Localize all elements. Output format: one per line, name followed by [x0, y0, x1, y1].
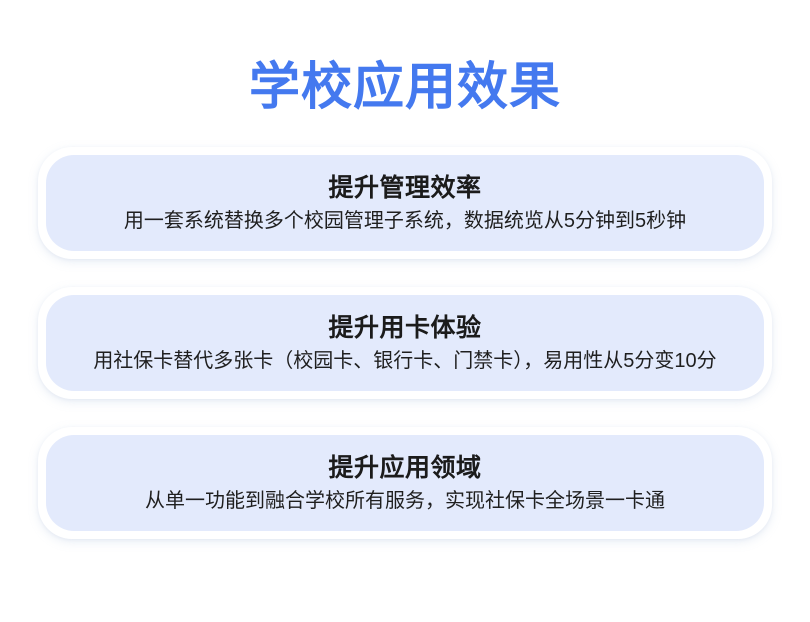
benefit-card-1-surface: 提升管理效率 用一套系统替换多个校园管理子系统，数据统览从5分钟到5秒钟 — [46, 155, 764, 251]
page-title: 学校应用效果 — [0, 57, 810, 117]
benefit-card-2-heading: 提升用卡体验 — [328, 312, 481, 344]
benefit-card-1: 提升管理效率 用一套系统替换多个校园管理子系统，数据统览从5分钟到5秒钟 — [38, 147, 772, 259]
benefit-card-1-body: 用一套系统替换多个校园管理子系统，数据统览从5分钟到5秒钟 — [124, 208, 686, 235]
benefit-card-1-heading: 提升管理效率 — [328, 172, 481, 204]
slide-root: 学校应用效果 提升管理效率 用一套系统替换多个校园管理子系统，数据统览从5分钟到… — [0, 0, 810, 622]
benefit-card-2: 提升用卡体验 用社保卡替代多张卡（校园卡、银行卡、门禁卡），易用性从5分变10分 — [38, 287, 772, 399]
benefit-card-3-body: 从单一功能到融合学校所有服务，实现社保卡全场景一卡通 — [145, 488, 665, 515]
benefit-card-3: 提升应用领域 从单一功能到融合学校所有服务，实现社保卡全场景一卡通 — [38, 427, 772, 539]
benefit-card-list: 提升管理效率 用一套系统替换多个校园管理子系统，数据统览从5分钟到5秒钟 提升用… — [0, 147, 810, 539]
benefit-card-3-heading: 提升应用领域 — [328, 452, 481, 484]
benefit-card-2-surface: 提升用卡体验 用社保卡替代多张卡（校园卡、银行卡、门禁卡），易用性从5分变10分 — [46, 295, 764, 391]
benefit-card-3-surface: 提升应用领域 从单一功能到融合学校所有服务，实现社保卡全场景一卡通 — [46, 435, 764, 531]
benefit-card-2-body: 用社保卡替代多张卡（校园卡、银行卡、门禁卡），易用性从5分变10分 — [93, 348, 716, 375]
